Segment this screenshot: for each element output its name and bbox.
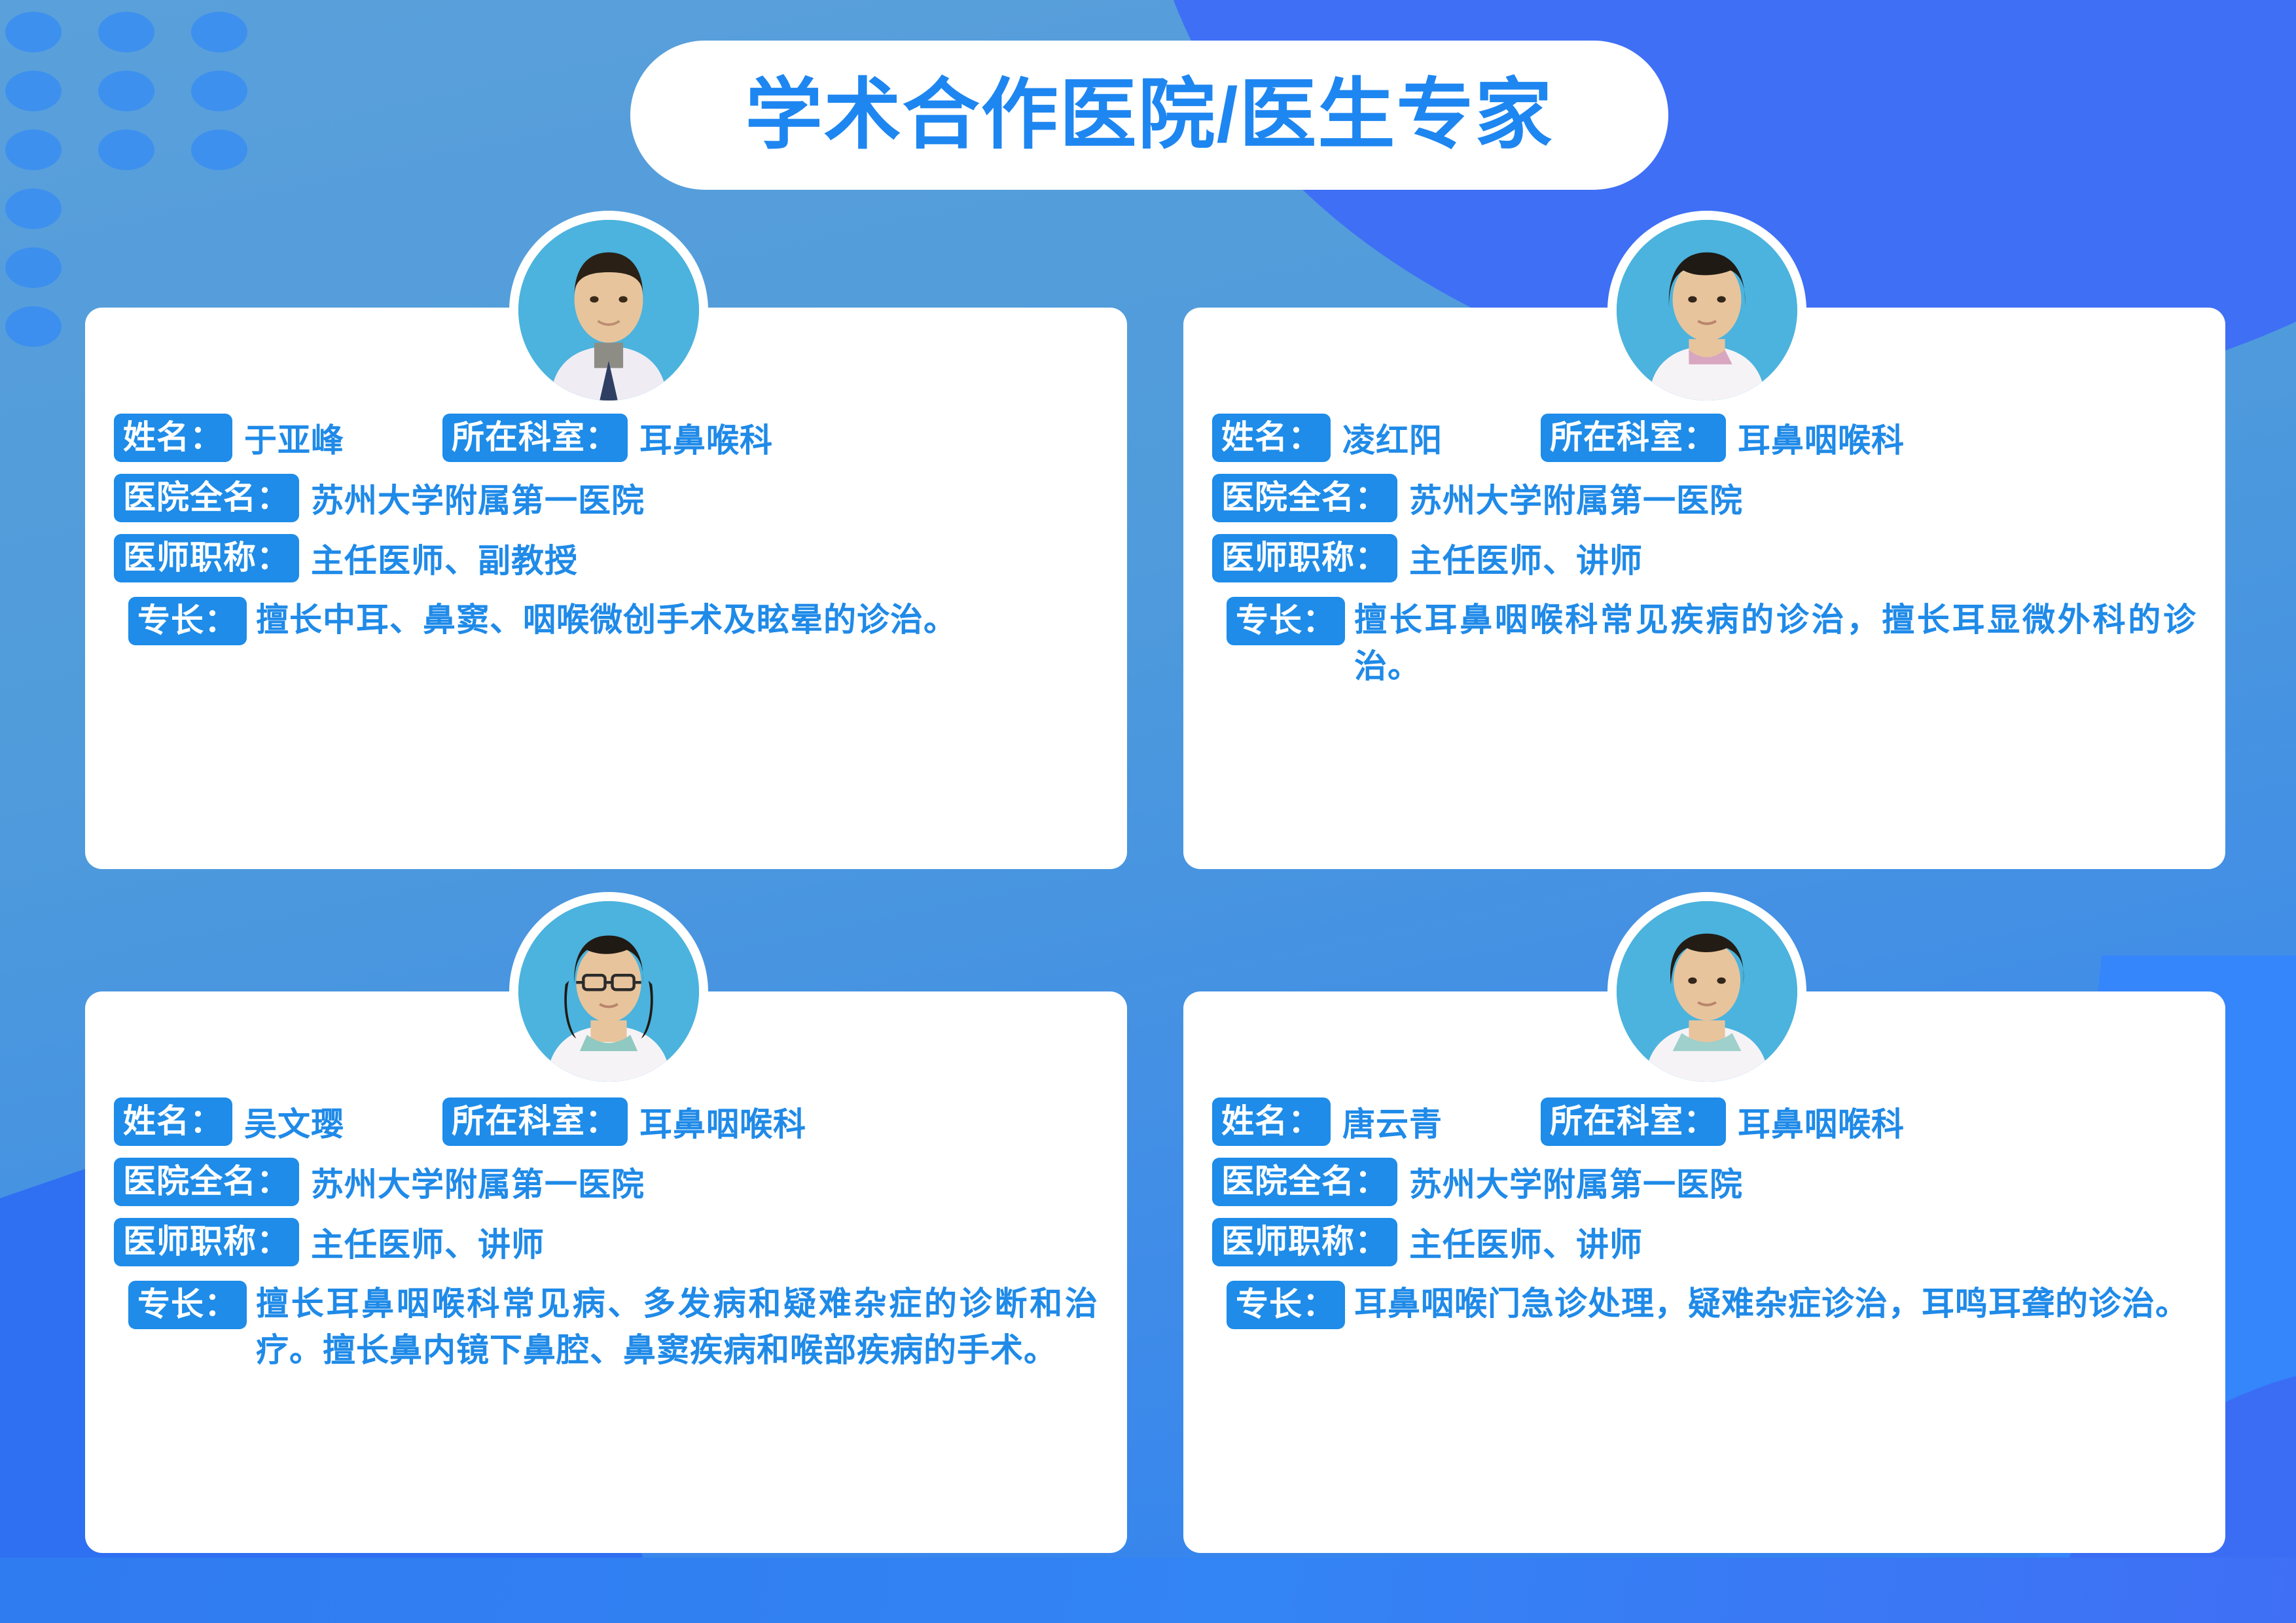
avatar <box>509 892 708 1091</box>
decorative-dot <box>98 12 154 52</box>
doctor-photo <box>518 901 699 1082</box>
hospital-label: 医院全名： <box>1212 474 1397 522</box>
doctor-name-row: 姓名： 吴文璎 所在科室： 耳鼻咽喉科 <box>114 1096 1098 1147</box>
decorative-dot <box>98 71 154 111</box>
doctor-rank: 主任医师、讲师 <box>311 1219 545 1266</box>
doctor-name-row: 姓名： 于亚峰 所在科室： 耳鼻喉科 <box>114 412 1098 463</box>
doctor-name-row: 姓名： 唐云青 所在科室： 耳鼻咽喉科 <box>1212 1096 2197 1147</box>
doctor-photo-male-short-hair-icon <box>518 220 699 401</box>
doctor-specialty-row: 专长：耳鼻咽喉门急诊处理，疑难杂症诊治，耳鸣耳聋的诊治。 <box>1212 1281 2197 1327</box>
decorative-dot <box>5 12 62 52</box>
hospital-label: 医院全名： <box>114 1158 299 1206</box>
name-label: 姓名： <box>114 1097 232 1146</box>
doctor-department: 耳鼻咽喉科 <box>1738 1098 1905 1145</box>
doctor-department: 耳鼻咽喉科 <box>1738 414 1905 461</box>
doctor-hospital-row: 医院全名： 苏州大学附属第一医院 <box>114 1156 1098 1207</box>
doctor-photo <box>1617 901 1797 1082</box>
doctor-department: 耳鼻喉科 <box>639 414 773 461</box>
doctor-name-row: 姓名： 凌红阳 所在科室： 耳鼻咽喉科 <box>1212 412 2197 463</box>
doctor-rank-row: 医师职称： 主任医师、副教授 <box>114 533 1098 584</box>
specialty-label: 专长： <box>128 1281 247 1329</box>
doctor-specialty: 耳鼻咽喉门急诊处理，疑难杂症诊治，耳鸣耳聋的诊治。 <box>1354 1285 2189 1322</box>
decorative-dot <box>5 188 62 229</box>
doctor-rank: 主任医师、副教授 <box>311 535 578 582</box>
rank-label: 医师职称： <box>1212 1218 1397 1266</box>
department-label: 所在科室： <box>1541 1097 1726 1146</box>
doctor-department-group: 所在科室： 耳鼻咽喉科 <box>1541 414 1905 462</box>
doctor-photo-female-bob-icon <box>1617 220 1797 401</box>
rank-label: 医师职称： <box>1212 534 1397 582</box>
doctor-photo <box>518 220 699 401</box>
department-label: 所在科室： <box>442 414 628 462</box>
doctor-rank-row: 医师职称： 主任医师、讲师 <box>114 1217 1098 1268</box>
name-label: 姓名： <box>114 414 232 462</box>
doctor-hospital-row: 医院全名： 苏州大学附属第一医院 <box>1212 473 2197 524</box>
doctor-hospital: 苏州大学附属第一医院 <box>1409 1158 1743 1205</box>
department-label: 所在科室： <box>1541 414 1726 462</box>
doctor-specialty-row: 专长：擅长中耳、鼻窦、咽喉微创手术及眩晕的诊治。 <box>114 597 1098 643</box>
department-label: 所在科室： <box>442 1097 628 1146</box>
doctor-photo-female-glasses-icon <box>518 901 699 1082</box>
doctor-department-group: 所在科室： 耳鼻咽喉科 <box>442 1097 806 1146</box>
decorative-dot <box>191 71 247 111</box>
avatar <box>509 211 708 410</box>
page-title-pill: 学术合作医院/医生专家 <box>630 41 1668 190</box>
doctor-hospital-row: 医院全名： 苏州大学附属第一医院 <box>1212 1156 2197 1207</box>
rank-label: 医师职称： <box>114 534 299 582</box>
avatar <box>1607 892 1806 1091</box>
name-label: 姓名： <box>1212 414 1331 462</box>
doctor-department: 耳鼻咽喉科 <box>639 1098 806 1145</box>
decorative-dot <box>5 130 62 170</box>
doctor-name: 吴文璎 <box>244 1098 344 1145</box>
decorative-dot <box>191 12 247 52</box>
name-label: 姓名： <box>1212 1097 1331 1146</box>
background-bottom-band <box>0 1558 2296 1623</box>
doctor-specialty: 擅长中耳、鼻窦、咽喉微创手术及眩晕的诊治。 <box>256 601 957 638</box>
hospital-label: 医院全名： <box>114 474 299 522</box>
doctor-specialty-row: 专长：擅长耳鼻咽喉科常见疾病的诊治，擅长耳显微外科的诊治。 <box>1212 597 2197 690</box>
doctor-rank: 主任医师、讲师 <box>1409 535 1643 582</box>
doctor-rank-row: 医师职称： 主任医师、讲师 <box>1212 1217 2197 1268</box>
doctor-rank-row: 医师职称： 主任医师、讲师 <box>1212 533 2197 584</box>
decorative-dot <box>5 71 62 111</box>
doctor-hospital: 苏州大学附属第一医院 <box>1409 474 1743 522</box>
doctor-department-group: 所在科室： 耳鼻喉科 <box>442 414 773 462</box>
decorative-dot <box>5 247 62 288</box>
doctor-department-group: 所在科室： 耳鼻咽喉科 <box>1541 1097 1905 1146</box>
page-title: 学术合作医院/医生专家 <box>745 77 1554 154</box>
doctor-name: 唐云青 <box>1342 1098 1443 1145</box>
specialty-label: 专长： <box>1227 1281 1345 1329</box>
decorative-dot <box>98 130 154 170</box>
doctor-hospital-row: 医院全名： 苏州大学附属第一医院 <box>114 473 1098 524</box>
doctor-name: 于亚峰 <box>244 414 344 461</box>
doctor-photo-female-scarf-icon <box>1617 901 1797 1082</box>
specialty-label: 专长： <box>128 597 247 645</box>
doctor-hospital: 苏州大学附属第一医院 <box>311 474 645 522</box>
doctor-specialty: 擅长耳鼻咽喉科常见病、多发病和疑难杂症的诊断和治疗。擅长鼻内镜下鼻腔、鼻窦疾病和… <box>256 1285 1098 1368</box>
hospital-label: 医院全名： <box>1212 1158 1397 1206</box>
doctor-specialty: 擅长耳鼻咽喉科常见疾病的诊治，擅长耳显微外科的诊治。 <box>1354 601 2197 685</box>
avatar <box>1607 211 1806 410</box>
rank-label: 医师职称： <box>114 1218 299 1266</box>
doctor-photo <box>1617 220 1797 401</box>
specialty-label: 专长： <box>1227 597 1345 645</box>
decorative-dot <box>5 306 62 347</box>
doctor-specialty-row: 专长：擅长耳鼻咽喉科常见病、多发病和疑难杂症的诊断和治疗。擅长鼻内镜下鼻腔、鼻窦… <box>114 1281 1098 1374</box>
doctor-name: 凌红阳 <box>1342 414 1443 461</box>
decorative-dot <box>191 130 247 170</box>
doctor-hospital: 苏州大学附属第一医院 <box>311 1158 645 1205</box>
doctor-rank: 主任医师、讲师 <box>1409 1219 1643 1266</box>
